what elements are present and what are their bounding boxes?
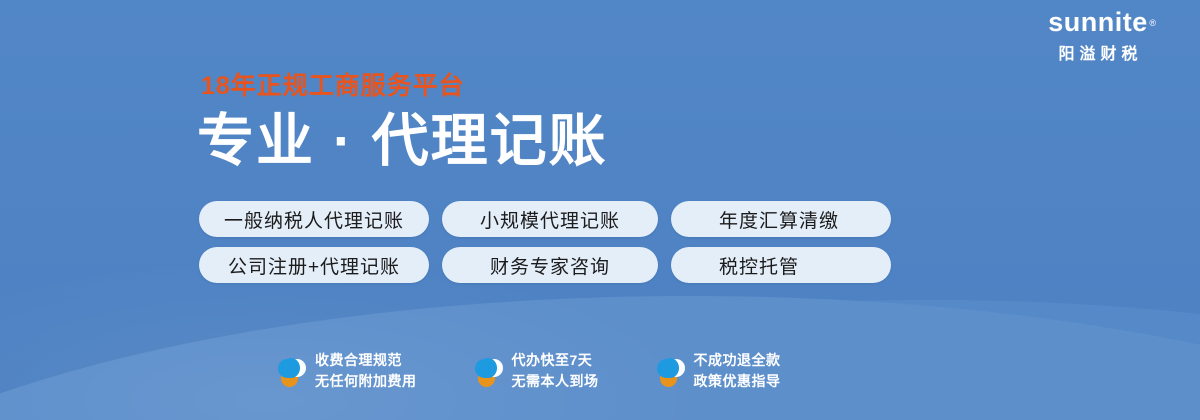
feature-text-guarantee: 不成功退全款 政策优惠指导 [694,350,781,392]
service-pill-row: 公司注册+代理记账 财务专家咨询 税控托管 [199,247,891,283]
moon-dot-icon [276,354,306,388]
service-pill-finance-consulting[interactable]: 财务专家咨询 [442,247,658,283]
crescent-icon [667,359,685,377]
service-pill-tax-control-hosting[interactable]: 税控托管 [671,247,891,283]
feature-line-1: 不成功退全款 [694,350,781,371]
hero-tagline: 18年正规工商服务平台 [201,74,465,99]
logo-wordmark: sunnite [1048,8,1148,36]
feature-text-speed: 代办快至7天 无需本人到场 [512,350,599,392]
feature-text-pricing: 收费合理规范 无任何附加费用 [315,350,417,392]
registered-trademark-icon: ® [1149,18,1156,28]
feature-line-1: 代办快至7天 [512,350,599,371]
moon-dot-icon [655,354,685,388]
service-pill-company-registration[interactable]: 公司注册+代理记账 [199,247,429,283]
feature-item-pricing: 收费合理规范 无任何附加费用 [276,350,417,392]
feature-line-1: 收费合理规范 [315,350,417,371]
hero-headline: 专业 · 代理记账 [197,112,608,172]
service-pill-annual-settlement[interactable]: 年度汇算清缴 [671,201,891,237]
feature-list: 收费合理规范 无任何附加费用 代办快至7天 无需本人到场 不成功退全款 [276,350,781,392]
feature-line-2: 无任何附加费用 [315,371,417,392]
crescent-icon [485,359,503,377]
feature-item-speed: 代办快至7天 无需本人到场 [473,350,599,392]
service-pill-row: 一般纳税人代理记账 小规模代理记账 年度汇算清缴 [199,201,891,237]
service-pill-grid: 一般纳税人代理记账 小规模代理记账 年度汇算清缴 公司注册+代理记账 财务专家咨… [199,201,891,293]
brand-logo[interactable]: sunnite ® 阳溢财税 [1018,8,1178,64]
feature-line-2: 无需本人到场 [512,371,599,392]
crescent-icon [288,359,306,377]
service-pill-general-taxpayer[interactable]: 一般纳税人代理记账 [199,201,429,237]
feature-line-2: 政策优惠指导 [694,371,781,392]
logo-chinese-name: 阳溢财税 [1018,40,1178,64]
promo-banner: sunnite ® 阳溢财税 18年正规工商服务平台 专业 · 代理记账 一般纳… [0,0,1200,420]
moon-dot-icon [473,354,503,388]
feature-item-guarantee: 不成功退全款 政策优惠指导 [655,350,781,392]
service-pill-small-scale[interactable]: 小规模代理记账 [442,201,658,237]
